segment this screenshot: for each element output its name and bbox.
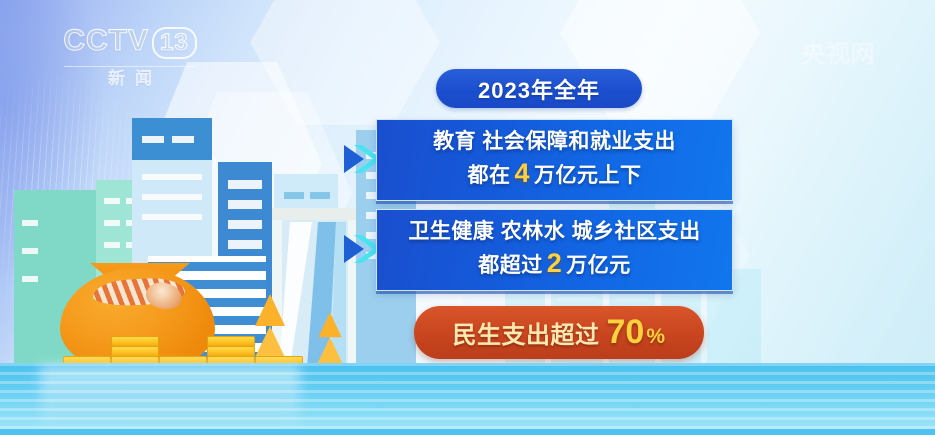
- banner-line-1: 卫生健康 农林水 城乡社区支出: [408, 219, 700, 246]
- corner-watermark: 央视网: [802, 34, 876, 69]
- badge-unit: %: [644, 325, 665, 349]
- period-pill: 2023年全年: [436, 69, 642, 108]
- banner-line-2-suffix: 万亿元上下: [534, 164, 642, 187]
- banner-line-2: 都超过2万亿元: [478, 246, 631, 281]
- reflection-glow: [40, 365, 300, 435]
- bottom-edge: [0, 429, 935, 435]
- stat-banner: 卫生健康 农林水 城乡社区支出 都超过2万亿元: [376, 209, 733, 291]
- banner-line-2-suffix: 万亿元: [566, 254, 631, 277]
- banner-highlight-value: 2: [543, 248, 567, 278]
- banner-line-2: 都在4万亿元上下: [467, 156, 641, 191]
- banner-line-2-prefix: 都超过: [478, 254, 543, 277]
- broadcast-graphic: CCTV13 新闻 央视网 2023年全年 教育 社会保障和就业支出 都在4万亿…: [0, 0, 935, 435]
- highlight-badge: 民生支出超过70%: [414, 306, 704, 359]
- logo-divider: [64, 66, 196, 67]
- badge-content: 民生支出超过70%: [452, 313, 665, 352]
- banner-highlight-value: 4: [510, 158, 534, 188]
- banner-line-1: 教育 社会保障和就业支出: [433, 129, 676, 156]
- channel-number: 13: [152, 27, 197, 59]
- period-label: 2023年全年: [478, 73, 600, 105]
- stat-banner: 教育 社会保障和就业支出 都在4万亿元上下: [376, 119, 733, 201]
- badge-value: 70: [599, 313, 644, 352]
- banner-line-2-prefix: 都在: [467, 164, 510, 187]
- channel-subtitle: 新闻: [60, 64, 200, 89]
- channel-logo: CCTV13 新闻: [60, 26, 200, 88]
- channel-logo-text: CCTV: [63, 24, 149, 57]
- badge-label: 民生支出超过: [452, 315, 599, 350]
